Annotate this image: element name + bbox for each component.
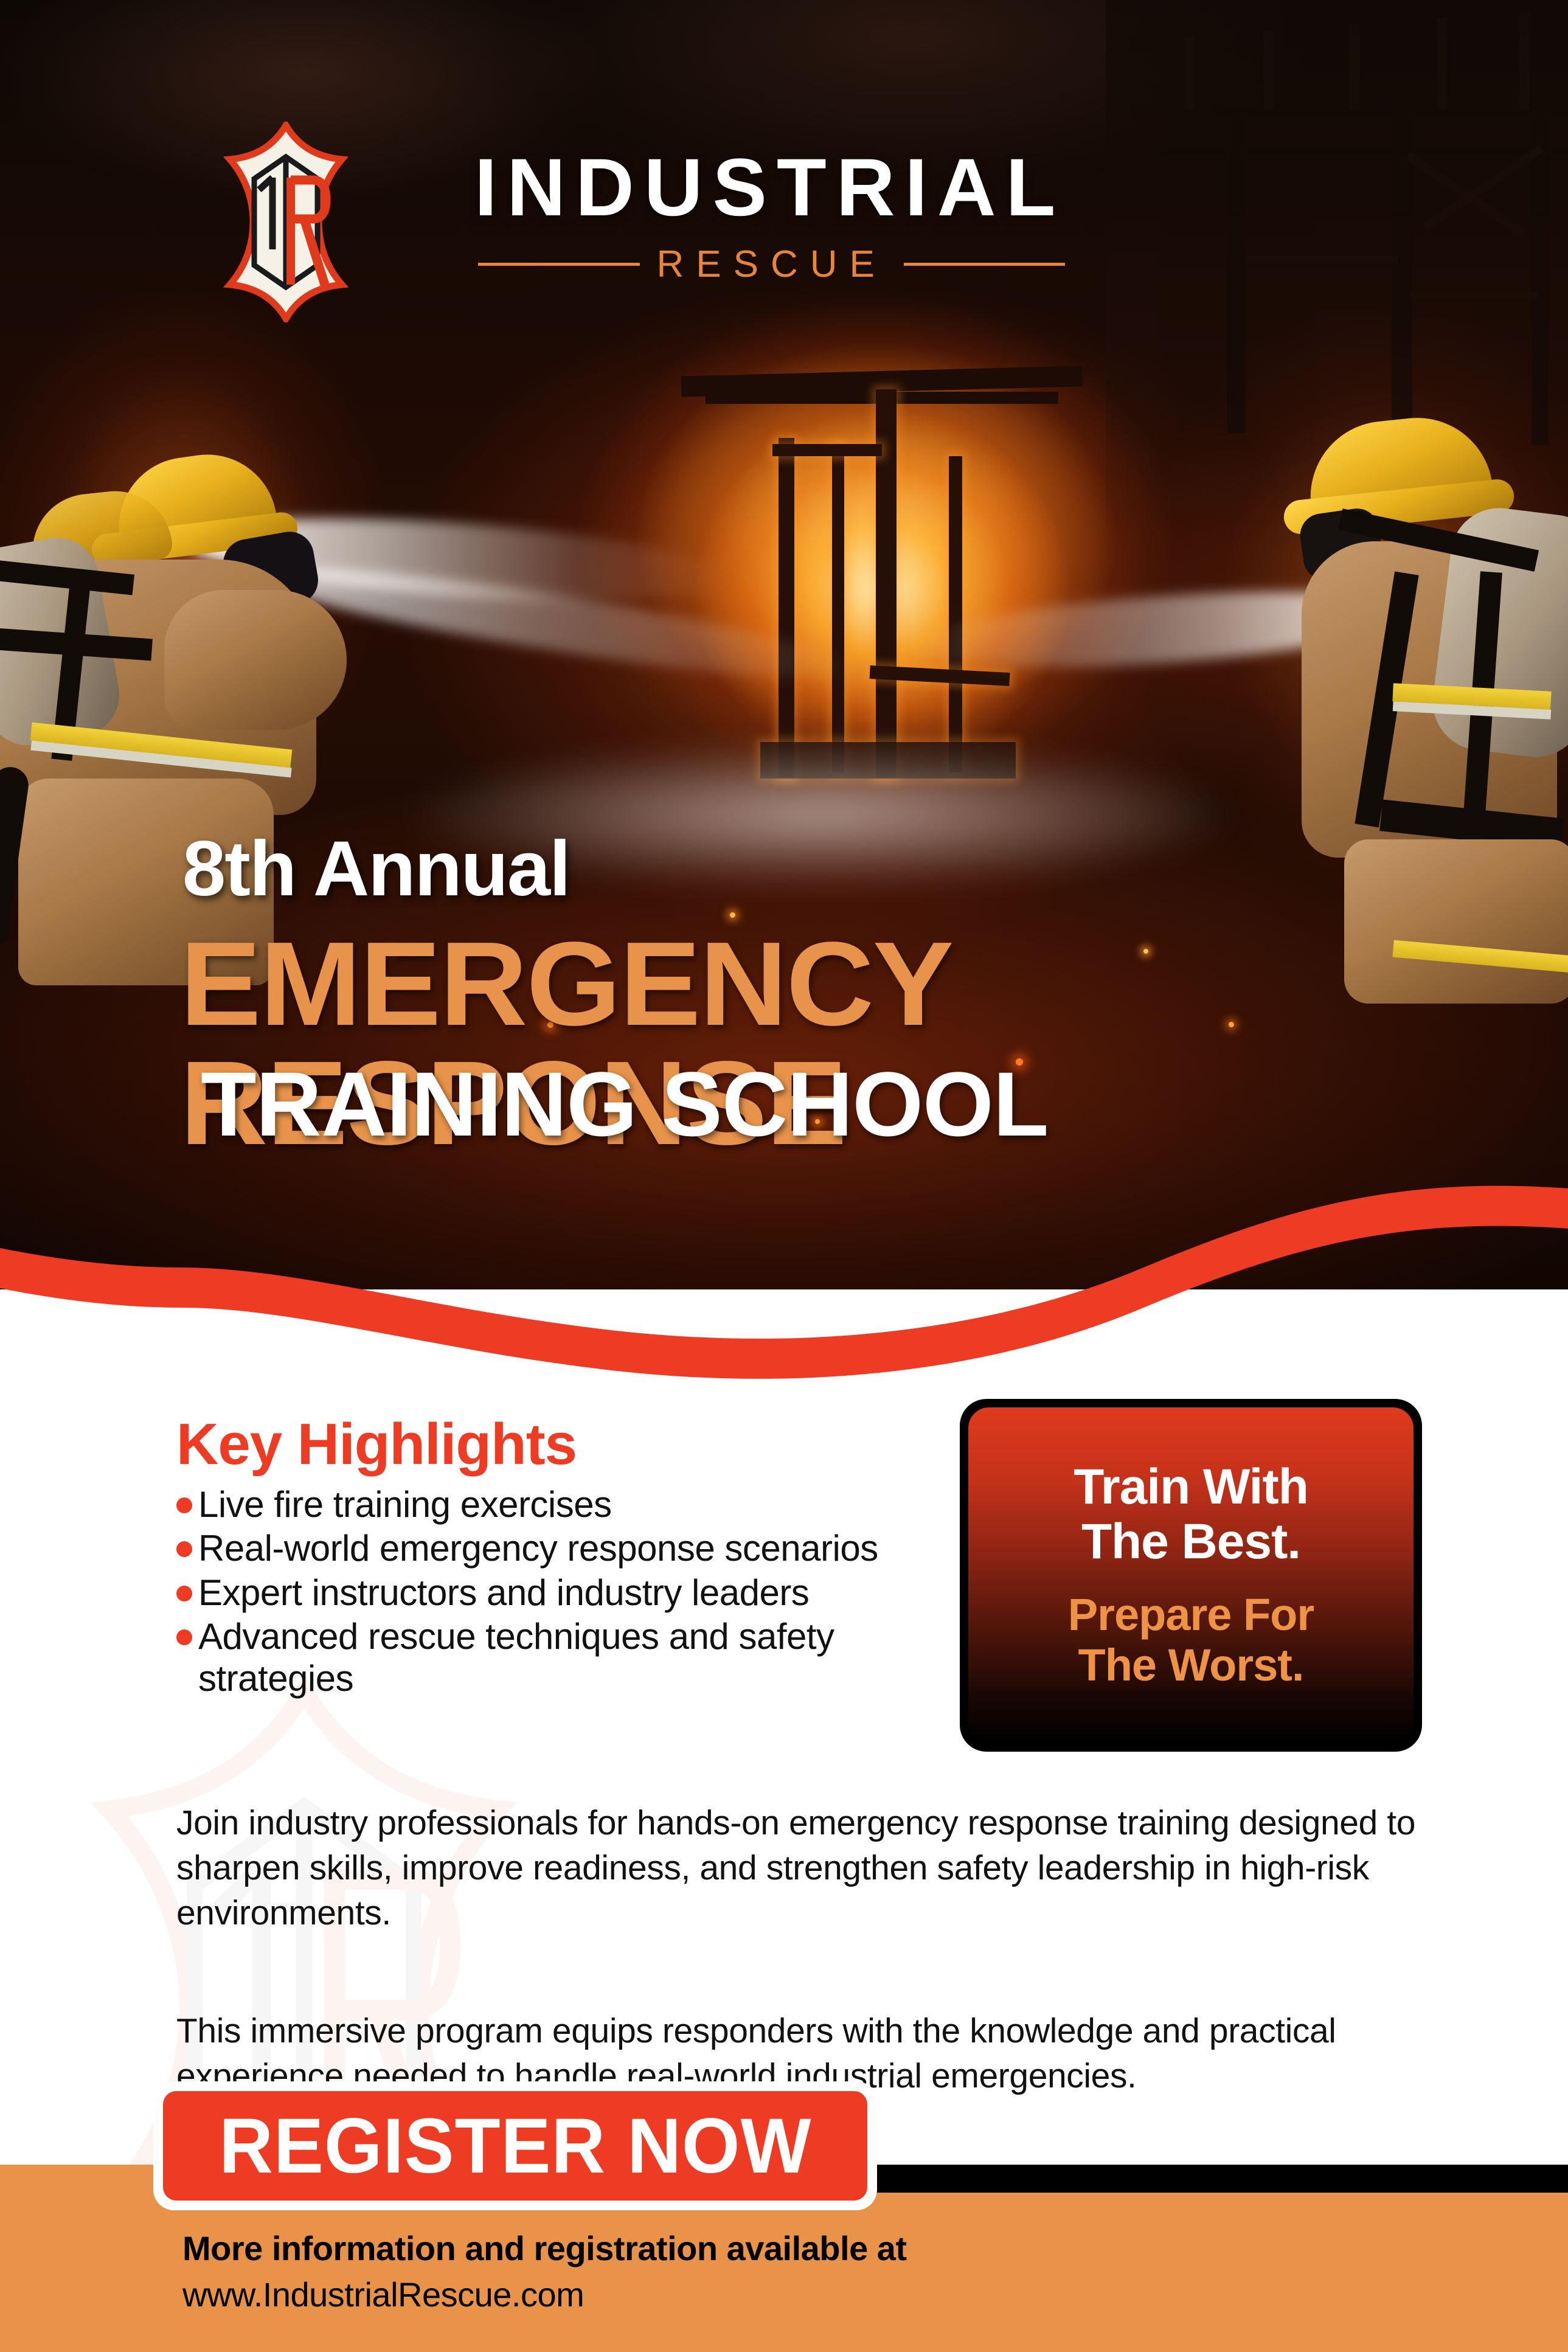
body-paragraph-1: Join industry professionals for hands-on… (176, 1800, 1429, 1935)
logo-wordmark-primary: INDUSTRIAL (474, 141, 1065, 234)
bullet-dot-icon (176, 1497, 192, 1513)
footer-website-url[interactable]: www.IndustrialRescue.com (182, 2275, 584, 2314)
key-highlights-heading: Key Highlights (176, 1411, 577, 1478)
tagline-line-3: Prepare For (1068, 1590, 1314, 1640)
tagline-line-2: The Best. (1081, 1514, 1300, 1569)
bullet-dot-icon (176, 1541, 192, 1557)
brand-logo: INDUSTRIAL RESCUE (182, 122, 1064, 322)
list-item-label: Live fire training exercises (198, 1484, 612, 1525)
logo-rule-left (478, 263, 640, 266)
firefighter-left (0, 450, 389, 997)
bullet-dot-icon (176, 1629, 192, 1645)
tagline-badge: Train With The Best. Prepare For The Wor… (960, 1399, 1422, 1752)
register-now-label: REGISTER NOW (219, 2101, 811, 2191)
firefighter-right (1271, 420, 1568, 1004)
footer-info-text: More information and registration availa… (182, 2229, 907, 2268)
list-item: Advanced rescue techniques and safety st… (176, 1616, 912, 1699)
footer-black-accent-bar (876, 2165, 1568, 2193)
wave-divider (0, 1070, 1568, 1387)
list-item: Real-world emergency response scenarios (176, 1528, 912, 1569)
list-item-label: Advanced rescue techniques and safety st… (198, 1616, 912, 1699)
register-now-button[interactable]: REGISTER NOW (163, 2091, 867, 2201)
list-item-label: Expert instructors and industry leaders (198, 1572, 809, 1614)
list-item: Live fire training exercises (176, 1484, 912, 1525)
tagline-line-4: The Worst. (1078, 1640, 1304, 1691)
bullet-dot-icon (176, 1586, 192, 1601)
event-poster: INDUSTRIAL RESCUE 8th Annual EMERGENCY R… (0, 0, 1568, 2352)
list-item-label: Real-world emergency response scenarios (198, 1528, 878, 1569)
logo-wordmark-secondary: RESCUE (657, 243, 887, 286)
maltese-cross-logo-icon (182, 122, 389, 322)
key-highlights-list: Live fire training exercises Real-world … (176, 1484, 912, 1702)
hero-eyebrow: 8th Annual (182, 824, 570, 914)
logo-rule-right (904, 263, 1066, 266)
list-item: Expert instructors and industry leaders (176, 1572, 912, 1614)
register-button-frame: REGISTER NOW (153, 2081, 877, 2210)
tagline-line-1: Train With (1074, 1460, 1308, 1514)
